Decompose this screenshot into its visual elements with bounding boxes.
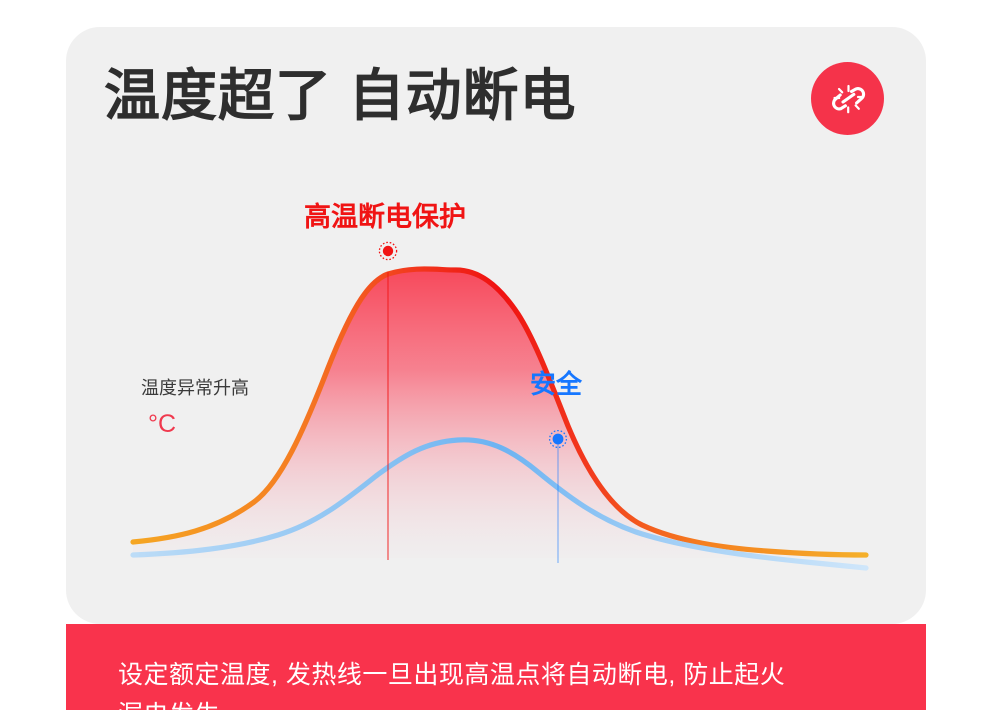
banner-line-1: 设定额定温度, 发热线一旦出现高温点将自动断电, 防止起火 <box>118 655 918 695</box>
high-temp-protection-label: 高温断电保护 <box>304 204 466 231</box>
broken-circuit-icon <box>827 78 869 120</box>
banner-text: 设定额定温度, 发热线一旦出现高温点将自动断电, 防止起火 漏电发生 <box>118 655 918 710</box>
degree-unit-label: °C <box>148 412 176 437</box>
safe-label: 安全 <box>530 371 582 397</box>
broken-circuit-badge[interactable] <box>811 62 884 135</box>
hot-curve-area <box>133 269 866 558</box>
banner-line-2: 漏电发生 <box>118 695 918 710</box>
screenshot-root: 温度超了 自动断电 <box>0 0 990 710</box>
temperature-rise-label: 温度异常升高 <box>141 379 249 397</box>
page-title: 温度超了 自动断电 <box>104 68 577 124</box>
hot-peak-marker[interactable] <box>379 242 396 259</box>
